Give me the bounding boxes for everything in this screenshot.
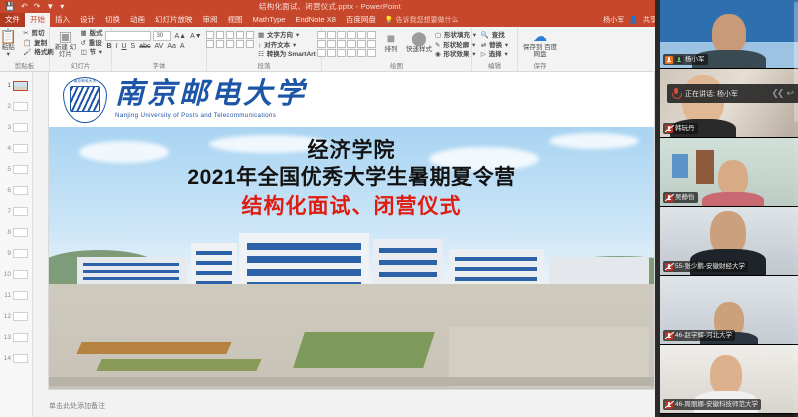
- slide-number: 2: [1, 103, 11, 110]
- slide-number: 7: [1, 208, 11, 215]
- change-case-button[interactable]: Aa: [166, 43, 177, 50]
- tab-review[interactable]: 审阅: [198, 13, 223, 27]
- account-area[interactable]: 杨小军 👤 共享: [603, 13, 657, 27]
- copy-label: 复制: [34, 40, 47, 49]
- slide-thumbnail-8[interactable]: 8: [0, 222, 32, 243]
- participant-tile-2[interactable]: 韩玩丹: [660, 69, 798, 138]
- powerpoint-window: 💾 ↶ ↷ ▼ ▾ 结构化面试、闭营仪式.pptx - PowerPoint 文…: [0, 0, 660, 417]
- slide-preview: [13, 123, 28, 132]
- ribbon-group-slides: ▣ 新建 幻灯片 ▦ 版式 ▾ ↺ 重设 ◫ 节 ▾ 幻灯片: [50, 27, 112, 71]
- slide-thumbnail-10[interactable]: 10: [0, 264, 32, 285]
- shape-line-icon[interactable]: [337, 31, 346, 39]
- replace-button[interactable]: ⇄ 替换 ▾: [481, 42, 508, 51]
- quick-styles-icon: ⬤: [411, 31, 427, 46]
- save-to-baidu-button[interactable]: ☁ 保存到 百度网盘: [520, 29, 560, 58]
- slide-preview: [13, 291, 28, 300]
- shape-brace-left-icon[interactable]: [357, 49, 366, 57]
- mic-on-icon: [675, 56, 683, 64]
- section-label: 节: [89, 49, 96, 58]
- participant-name: 吴静怡: [675, 193, 695, 202]
- shape-outline-button[interactable]: ✎ 形状轮廓 ▾: [435, 42, 476, 51]
- video-panel-scrollbar[interactable]: [794, 0, 798, 417]
- new-slide-icon: ▣: [59, 29, 72, 44]
- tell-me-search[interactable]: 💡 告诉我您想要做什么: [381, 13, 459, 27]
- mic-muted-icon: [665, 401, 673, 409]
- screen: 💾 ↶ ↷ ▼ ▾ 结构化面试、闭营仪式.pptx - PowerPoint 文…: [0, 0, 798, 417]
- shape-callout-icon[interactable]: [317, 49, 326, 57]
- align-text-label: 对齐文本: [264, 42, 290, 51]
- italic-button[interactable]: I: [115, 43, 119, 50]
- participant-label: 杨小军: [663, 54, 708, 65]
- align-text-button[interactable]: ↕ 对齐文本 ▾: [258, 42, 322, 51]
- group-name-font: 字体: [153, 62, 166, 71]
- shape-fill-label: 形状填充: [444, 32, 470, 41]
- university-name-cn: 南京邮电大学: [115, 80, 307, 109]
- video-conference-panel: 杨小军 韩玩丹 吴静怡: [660, 0, 798, 417]
- participant-tile-1[interactable]: 杨小军: [660, 0, 798, 69]
- slide-thumbnail-13[interactable]: 13: [0, 327, 32, 348]
- character-spacing-button[interactable]: AV: [154, 43, 165, 50]
- shape-star-icon[interactable]: [367, 40, 376, 48]
- shape-rounded-icon[interactable]: [327, 31, 336, 39]
- shape-square-icon[interactable]: [357, 31, 366, 39]
- ribbon-group-clipboard: 📋 粘贴 ▾ ✂ 剪切 📋 复制 🖌 格式刷 剪贴板: [0, 27, 50, 71]
- shape-effects-label: 形状效果: [443, 51, 469, 60]
- shadow-button[interactable]: S: [130, 43, 137, 50]
- slide-preview: [13, 354, 28, 363]
- participant-label: 吴静怡: [663, 192, 698, 203]
- slide-thumbnail-panel[interactable]: 1 2 3 4 5: [0, 72, 33, 417]
- quick-styles-label: 快速样式: [406, 46, 432, 53]
- decrease-indent-icon[interactable]: [226, 31, 234, 39]
- ribbon-group-font: 30 A▲ A▼ ✖ B I U S abc AV Aa A: [112, 27, 207, 71]
- paste-label: 粘贴: [2, 44, 15, 51]
- bold-button[interactable]: B: [105, 43, 112, 50]
- slide-title-line2: 2021年全国优秀大学生暑期夏令营: [49, 164, 654, 192]
- align-left-icon[interactable]: [206, 40, 214, 48]
- convert-smartart-label: 转换为 SmartArt: [267, 51, 316, 60]
- participant-tile-6[interactable]: 46-周丽娜-安徽科技师范大学: [660, 345, 798, 414]
- mic-muted-icon: [665, 332, 673, 340]
- find-label: 查找: [492, 32, 505, 41]
- slide-preview: [13, 249, 28, 258]
- line-spacing-icon[interactable]: [246, 31, 254, 39]
- logo-top-text: 南京邮电大学: [63, 79, 107, 84]
- shape-freeform-icon[interactable]: [327, 49, 336, 57]
- slide-number: 13: [1, 334, 11, 341]
- tab-design[interactable]: 设计: [75, 13, 100, 27]
- current-slide[interactable]: 南京邮电大学 南京邮电大学 Nanjing University of Post…: [49, 72, 654, 389]
- document-title: 结构化面试、闭营仪式.pptx - PowerPoint: [0, 1, 660, 12]
- justify-icon[interactable]: [236, 40, 244, 48]
- participant-name: 韩玩丹: [675, 124, 695, 133]
- ribbon-group-paragraph: ▦ 文字方向 ▾ ↕ 对齐文本 ▾ ☷ 转换为 SmartArt ▾ 段落: [207, 27, 322, 71]
- participant-name: 55-张少鹏-安徽财经大学: [675, 262, 745, 271]
- select-button[interactable]: ▷ 选择 ▾: [481, 51, 508, 60]
- reset-button[interactable]: ↺ 重设: [80, 40, 108, 49]
- slide-number: 6: [1, 187, 11, 194]
- arrange-icon: ■: [387, 31, 395, 46]
- slide-thumbnail-9[interactable]: 9: [0, 243, 32, 264]
- font-color-button[interactable]: A: [179, 43, 186, 50]
- slide-thumbnail-6[interactable]: 6: [0, 180, 32, 201]
- reset-label: 重设: [89, 40, 102, 49]
- shape-chevron-icon[interactable]: [347, 49, 356, 57]
- tab-animations[interactable]: 动画: [125, 13, 150, 27]
- shape-rect-icon[interactable]: [317, 31, 326, 39]
- participant-label: 46-周丽娜-安徽科技师范大学: [663, 399, 761, 410]
- slide-thumbnail-5[interactable]: 5: [0, 159, 32, 180]
- participant-tile-3[interactable]: 吴静怡: [660, 138, 798, 207]
- cut-label: 剪切: [31, 30, 44, 39]
- slide-thumbnail-7[interactable]: 7: [0, 201, 32, 222]
- tab-file[interactable]: 文件: [0, 13, 25, 27]
- slide-preview: [13, 165, 28, 174]
- shape-connector-icon[interactable]: [337, 40, 346, 48]
- slide-thumbnail-11[interactable]: 11: [0, 285, 32, 306]
- account-name: 杨小军: [603, 15, 624, 25]
- now-speaking-text: 正在讲话: 杨小军: [685, 89, 767, 99]
- tell-me-placeholder: 告诉我您想要做什么: [396, 15, 459, 25]
- group-name-drawing: 绘图: [390, 62, 403, 71]
- shape-arc-icon[interactable]: [337, 49, 346, 57]
- slide-number: 4: [1, 145, 11, 152]
- shape-pentagon-icon[interactable]: [357, 40, 366, 48]
- new-slide-label: 新建 幻灯片: [52, 44, 78, 58]
- shape-brace-right-icon[interactable]: [367, 49, 376, 57]
- select-label: 选择: [489, 51, 502, 60]
- align-right-icon[interactable]: [226, 40, 234, 48]
- tab-slideshow[interactable]: 幻灯片放映: [150, 13, 198, 27]
- university-name-en: Nanjing University of Posts and Telecomm…: [115, 112, 307, 119]
- bullets-icon[interactable]: [206, 31, 214, 39]
- editor-area: 1 2 3 4 5: [0, 72, 660, 417]
- now-speaking-banner: 正在讲话: 杨小军 ❮❮ ↩: [667, 84, 798, 103]
- ribbon-group-save: ☁ 保存到 百度网盘 保存: [518, 27, 562, 71]
- slide-thumbnail-14[interactable]: 14: [0, 348, 32, 369]
- mic-muted-icon: [665, 263, 673, 271]
- university-logo-icon: 南京邮电大学: [63, 77, 107, 123]
- slide-stage: 南京邮电大学 南京邮电大学 Nanjing University of Post…: [33, 72, 660, 417]
- tab-insert[interactable]: 插入: [50, 13, 75, 27]
- slide-number: 8: [1, 229, 11, 236]
- ribbon-group-editing: 🔍 查找 ⇄ 替换 ▾ ▷ 选择 ▾ 编辑: [472, 27, 518, 71]
- shape-arrow-icon[interactable]: [347, 31, 356, 39]
- slide-preview: [13, 228, 28, 237]
- slide-preview: [13, 333, 28, 342]
- ribbon-group-drawing: ■ 排列 ⬤ 快速样式 ▢ 形状填充 ▾ ✎ 形状轮廓 ▾ ◉ 形状效果 ▾ 绘…: [322, 27, 472, 71]
- text-direction-label: 文字方向: [267, 32, 293, 41]
- slide-thumbnail-4[interactable]: 4: [0, 138, 32, 159]
- ribbon: 📋 粘贴 ▾ ✂ 剪切 📋 复制 🖌 格式刷 剪贴板 ▣: [0, 27, 660, 72]
- return-icon[interactable]: ↩: [786, 88, 794, 99]
- group-name-paragraph: 段落: [258, 62, 271, 71]
- numbering-icon[interactable]: [216, 31, 224, 39]
- increase-font-size-icon[interactable]: A▲: [173, 33, 187, 40]
- convert-smartart-button[interactable]: ☷ 转换为 SmartArt ▾: [258, 51, 322, 60]
- participant-name: 46-赵学辉-河北大学: [675, 331, 732, 340]
- participant-name: 杨小军: [685, 55, 705, 64]
- mic-muted-icon: [665, 125, 673, 133]
- share-icon[interactable]: 👤: [629, 16, 638, 24]
- slide-preview: [13, 81, 28, 91]
- slide-body: 经济学院 2021年全国优秀大学生暑期夏令营 结构化面试、闭营仪式: [49, 127, 654, 389]
- tab-mathtype[interactable]: MathType: [248, 13, 291, 27]
- slide-thumbnail-1[interactable]: 1: [0, 75, 32, 96]
- tab-baidu-netdisk[interactable]: 百度网盘: [341, 13, 381, 27]
- paste-dropdown-arrow[interactable]: ▾: [7, 51, 10, 58]
- layout-button[interactable]: ▦ 版式 ▾: [80, 30, 108, 39]
- align-center-icon[interactable]: [216, 40, 224, 48]
- shape-gallery[interactable]: [317, 31, 376, 57]
- slide-thumbnail-12[interactable]: 12: [0, 306, 32, 327]
- slide-preview: [13, 144, 28, 153]
- tab-transitions[interactable]: 切换: [100, 13, 125, 27]
- participant-name: 46-周丽娜-安徽科技师范大学: [675, 400, 758, 409]
- group-name-slides: 幻灯片: [71, 62, 91, 71]
- participant-tile-5[interactable]: 46-赵学辉-河北大学: [660, 276, 798, 345]
- underline-button[interactable]: U: [120, 43, 127, 50]
- shape-rect2-icon[interactable]: [317, 40, 326, 48]
- slide-number: 12: [1, 313, 11, 320]
- arrange-label: 排列: [384, 46, 397, 53]
- group-name-save: 保存: [534, 62, 547, 71]
- slide-title-line1: 经济学院: [49, 137, 654, 164]
- slide-number: 1: [1, 82, 11, 89]
- shape-oval-icon[interactable]: [367, 31, 376, 39]
- group-name-clipboard: 剪贴板: [15, 62, 35, 71]
- slide-number: 10: [1, 271, 11, 278]
- shape-effects-button[interactable]: ◉ 形状效果 ▾: [435, 51, 476, 60]
- find-button[interactable]: 🔍 查找: [481, 32, 508, 41]
- slide-title-block[interactable]: 经济学院 2021年全国优秀大学生暑期夏令营 结构化面试、闭营仪式: [49, 137, 654, 222]
- new-slide-button[interactable]: ▣ 新建 幻灯片: [52, 29, 78, 58]
- paste-button[interactable]: 📋 粘贴 ▾: [0, 29, 21, 58]
- strikethrough-button[interactable]: abc: [138, 43, 151, 50]
- decrease-font-size-icon[interactable]: A▼: [189, 33, 203, 40]
- paste-icon: 📋: [0, 29, 17, 44]
- replace-label: 替换: [489, 42, 502, 51]
- participant-label: 韩玩丹: [663, 123, 698, 134]
- slide-preview: [13, 270, 28, 279]
- participant-tile-4[interactable]: 55-张少鹏-安徽财经大学: [660, 207, 798, 276]
- baidu-cloud-icon: ☁: [533, 29, 547, 44]
- save-to-baidu-label: 保存到 百度网盘: [520, 44, 560, 58]
- title-bar: 💾 ↶ ↷ ▼ ▾ 结构化面试、闭营仪式.pptx - PowerPoint: [0, 0, 660, 13]
- arrange-button[interactable]: ■ 排列: [379, 31, 403, 53]
- slide-preview: [13, 186, 28, 195]
- slide-title-line3: 结构化面试、闭营仪式: [49, 192, 654, 222]
- participant-label: 55-张少鹏-安徽财经大学: [663, 261, 748, 272]
- font-size-input[interactable]: 30: [153, 31, 171, 41]
- slide-preview: [13, 312, 28, 321]
- slide-number: 14: [1, 355, 11, 362]
- shape-fill-button[interactable]: ▢ 形状填充 ▾: [435, 32, 476, 41]
- columns-icon[interactable]: [246, 40, 254, 48]
- tab-view[interactable]: 视图: [223, 13, 248, 27]
- slide-preview: [13, 207, 28, 216]
- slide-number: 5: [1, 166, 11, 173]
- slide-header: 南京邮电大学 南京邮电大学 Nanjing University of Post…: [49, 72, 654, 127]
- slide-thumbnail-2[interactable]: 2: [0, 96, 32, 117]
- slide-number: 9: [1, 250, 11, 257]
- slide-number: 11: [1, 292, 11, 299]
- tab-endnote[interactable]: EndNote X8: [290, 13, 340, 27]
- section-button[interactable]: ◫ 节 ▾: [80, 49, 108, 58]
- layout-label: 版式: [89, 30, 102, 39]
- text-direction-button[interactable]: ▦ 文字方向 ▾: [258, 32, 322, 41]
- shape-outline-label: 形状轮廓: [443, 42, 469, 51]
- shape-curve-icon[interactable]: [347, 40, 356, 48]
- quick-styles-button[interactable]: ⬤ 快速样式: [406, 31, 432, 53]
- notes-placeholder[interactable]: 单击此处添加备注: [49, 401, 654, 411]
- shape-triangle-icon[interactable]: [327, 40, 336, 48]
- slide-thumbnail-3[interactable]: 3: [0, 117, 32, 138]
- host-icon: [665, 56, 673, 64]
- mic-muted-icon: [665, 194, 673, 202]
- participant-label: 46-赵学辉-河北大学: [663, 330, 735, 341]
- slide-preview: [13, 102, 28, 111]
- group-name-editing: 编辑: [488, 62, 501, 71]
- chevron-left-icon[interactable]: ❮❮: [771, 88, 782, 99]
- microphone-icon: [672, 88, 681, 99]
- increase-indent-icon[interactable]: [236, 31, 244, 39]
- slide-number: 3: [1, 124, 11, 131]
- font-name-input[interactable]: [105, 31, 151, 41]
- lightbulb-icon: 💡: [385, 16, 394, 24]
- tab-home[interactable]: 开始: [25, 13, 50, 27]
- ribbon-tab-bar: 文件 开始 插入 设计 切换 动画 幻灯片放映 审阅 视图 MathType E…: [0, 13, 660, 27]
